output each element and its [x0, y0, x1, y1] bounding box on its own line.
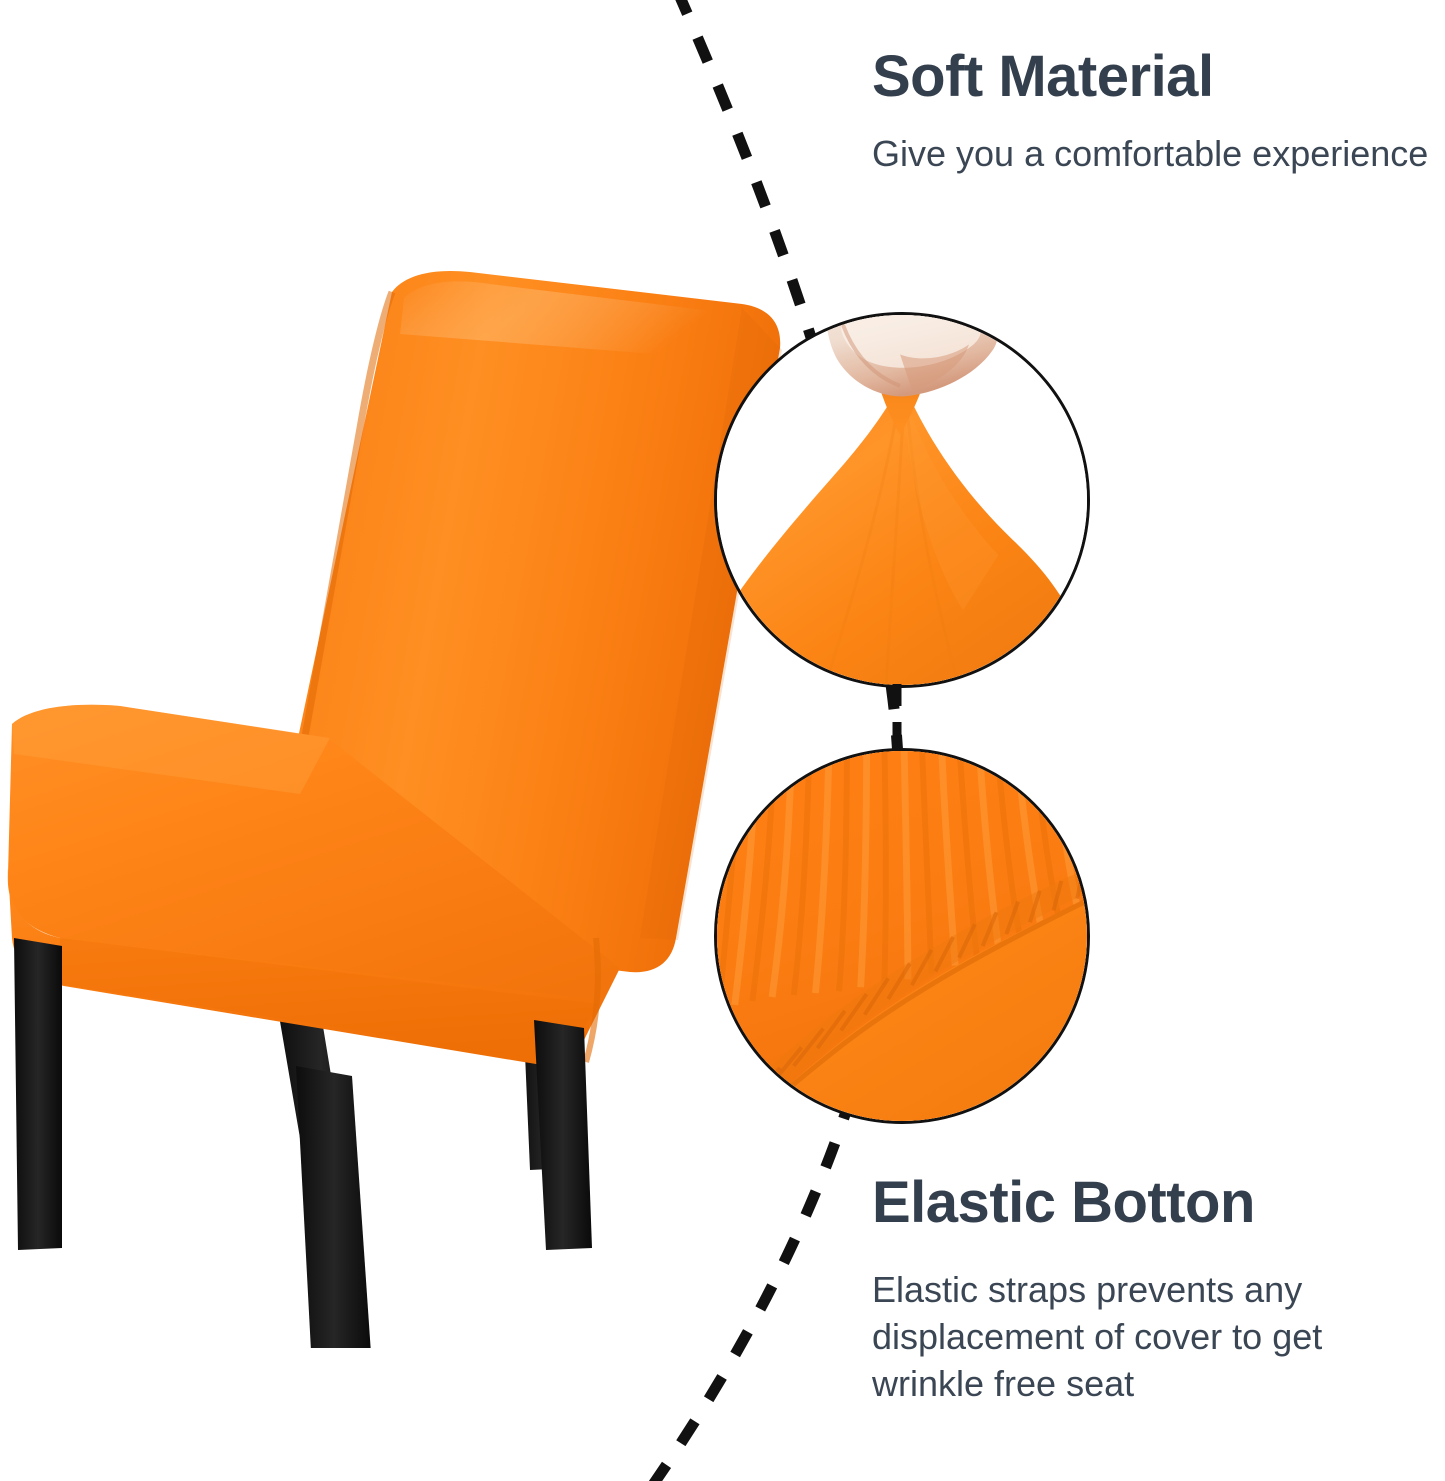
- product-infographic: Soft Material Give you a comfortable exp…: [0, 0, 1445, 1481]
- detail-circle-elastic-bottom: [714, 748, 1090, 1124]
- chair-illustration: [0, 238, 800, 1348]
- feature-description-soft-material: Give you a comfortable experience: [872, 131, 1432, 178]
- feature-description-elastic-bottom: Elastic straps prevents any displacement…: [872, 1267, 1432, 1407]
- feature-title-soft-material: Soft Material: [872, 46, 1432, 107]
- elastic-hem-closeup: [717, 751, 1087, 1121]
- feature-title-elastic-bottom: Elastic Botton: [872, 1172, 1432, 1233]
- feature-block-elastic-bottom: Elastic Botton Elastic straps prevents a…: [872, 1172, 1432, 1408]
- detail-circle-soft-material: [714, 312, 1090, 688]
- feature-block-soft-material: Soft Material Give you a comfortable exp…: [872, 46, 1432, 178]
- dashed-connector-line: [860, 680, 940, 760]
- pinched-fabric-closeup: [717, 315, 1087, 685]
